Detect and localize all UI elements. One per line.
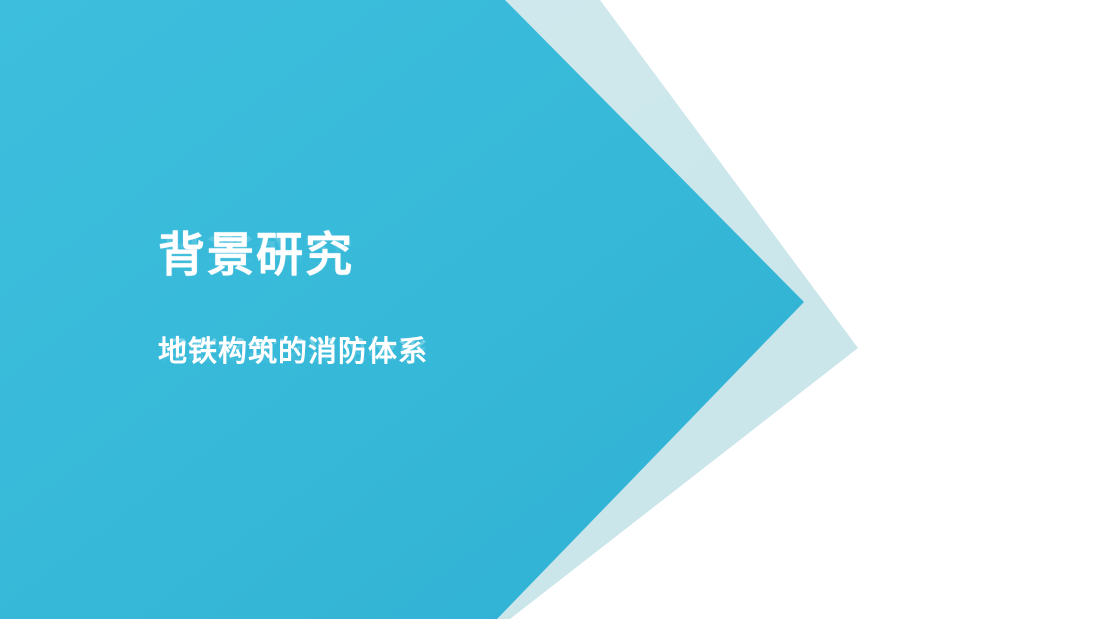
page-title: 背景研究 bbox=[158, 228, 354, 283]
subtitle-group: 地铁构筑的消防体系 地铁构筑的消防体系 bbox=[158, 332, 778, 412]
slide-canvas: 背景研究 背景研究 地铁构筑的消防体系 地铁构筑的消防体系 bbox=[0, 0, 1100, 619]
title-block: 背景研究 背景研究 地铁构筑的消防体系 地铁构筑的消防体系 bbox=[158, 228, 778, 412]
page-subtitle: 地铁构筑的消防体系 bbox=[158, 332, 428, 370]
title-group: 背景研究 背景研究 bbox=[158, 228, 778, 314]
